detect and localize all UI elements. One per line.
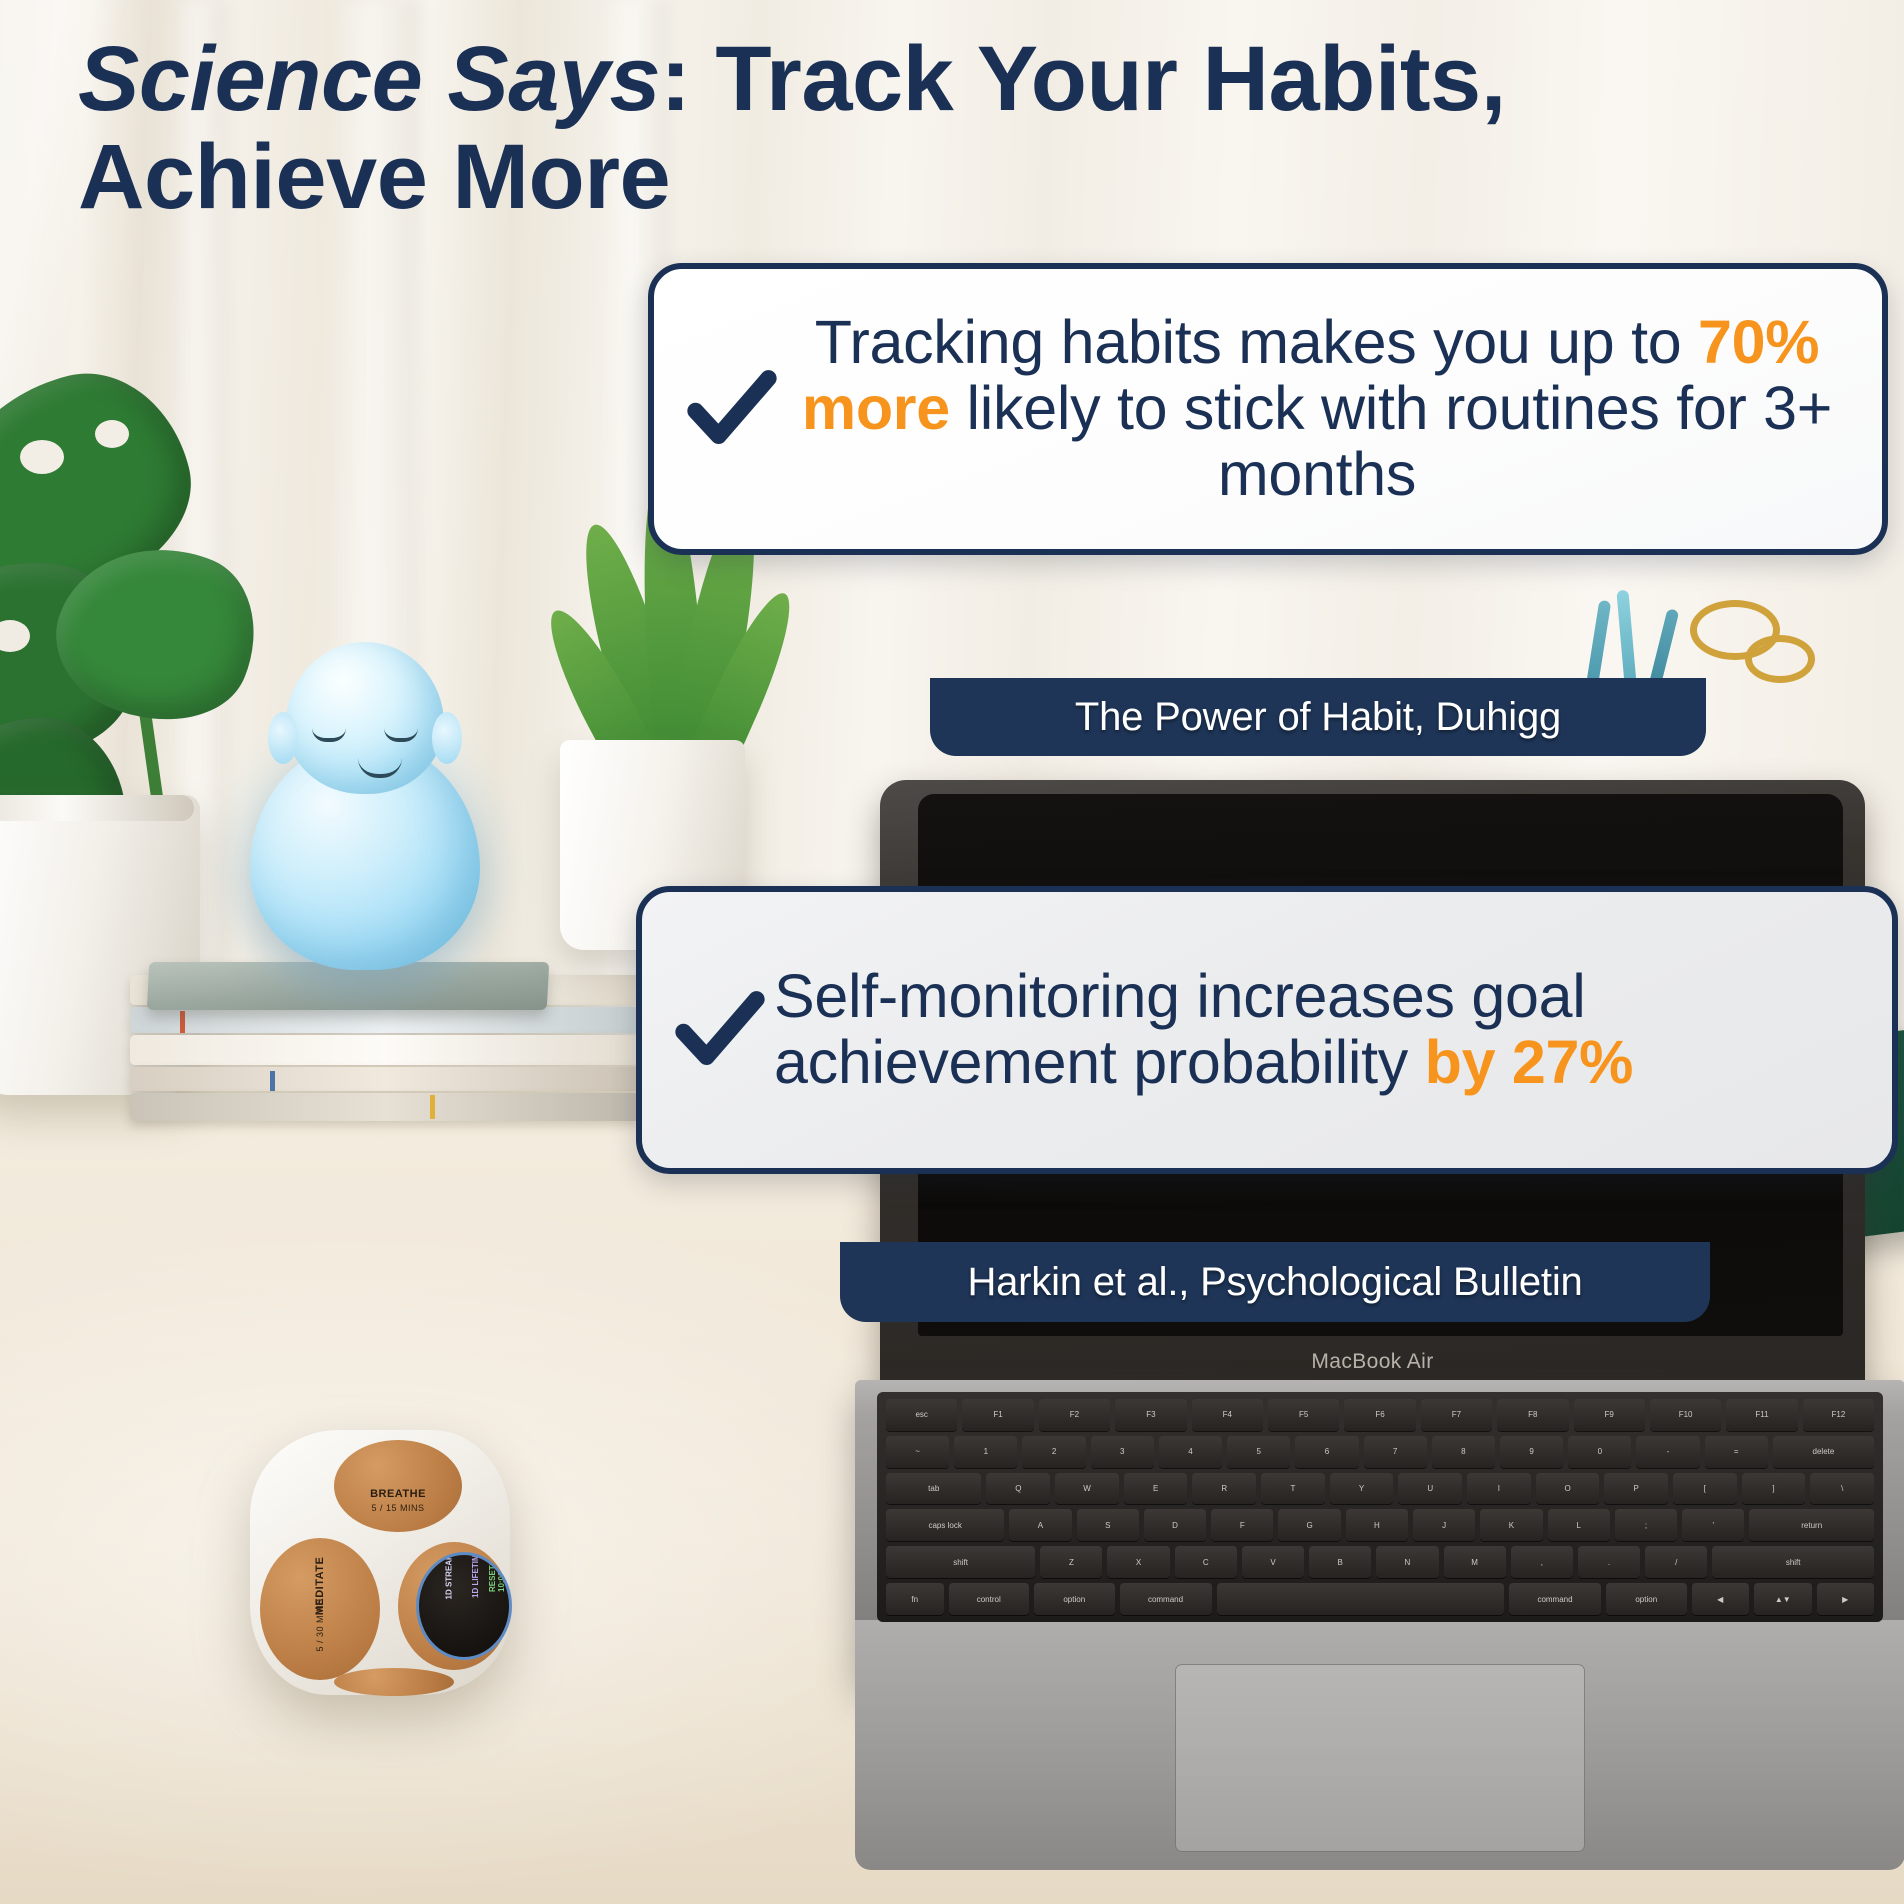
citation-1-text: The Power of Habit, Duhigg <box>1075 695 1561 740</box>
citation-bar-1: The Power of Habit, Duhigg <box>930 678 1706 756</box>
stat-card-2: Self-monitoring increases goal achieveme… <box>636 886 1898 1174</box>
stat-card-1-text: Tracking habits makes you up to 70% more… <box>786 310 1882 508</box>
stat-text-part: Tracking habits makes you up to <box>815 308 1698 376</box>
stat-card-2-text: Self-monitoring increases goal achieveme… <box>774 964 1892 1096</box>
page-title: Science Says: Track Your Habits, Achieve… <box>78 30 1718 227</box>
graphic-overlay: Science Says: Track Your Habits, Achieve… <box>0 0 1904 1904</box>
stat-highlight: by 27% <box>1425 1028 1633 1096</box>
citation-bar-2: Harkin et al., Psychological Bulletin <box>840 1242 1710 1322</box>
stat-text-part: likely to stick with routines for 3+ mon… <box>950 374 1832 508</box>
checkmark-icon <box>678 361 786 457</box>
checkmark-icon <box>666 982 774 1078</box>
stat-card-1: Tracking habits makes you up to 70% more… <box>648 263 1888 555</box>
title-emphasis: Science Says <box>78 28 660 130</box>
citation-2-text: Harkin et al., Psychological Bulletin <box>967 1260 1582 1305</box>
